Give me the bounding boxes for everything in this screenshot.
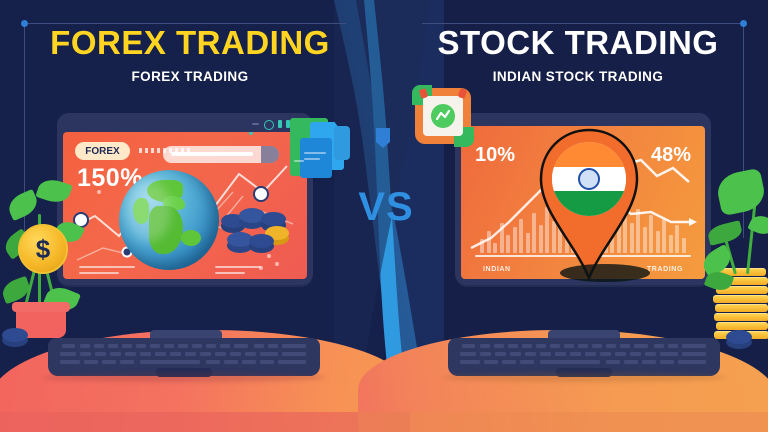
- zigzag-line-icon: [431, 104, 455, 128]
- laptop-right-base-shadow: [442, 373, 726, 382]
- desk-edge-left: [0, 412, 410, 432]
- india-flag-icon: [552, 142, 626, 216]
- laptop-right-keyboard[interactable]: [448, 338, 720, 376]
- right-heading-group: STOCK TRADING INDIAN STOCK TRADING: [398, 26, 758, 84]
- left-subtitle: FOREX TRADING: [10, 69, 370, 84]
- right-subtitle: INDIAN STOCK TRADING: [398, 69, 758, 84]
- right-title: STOCK TRADING: [398, 26, 758, 61]
- app-icon-pin-right: [458, 88, 467, 99]
- right-axis-label-right: TRADING: [647, 266, 683, 273]
- laptop-left-keyboard[interactable]: [48, 338, 320, 376]
- left-heading-group: FOREX TRADING FOREX TRADING: [10, 26, 370, 84]
- poker-chip-stack-icon: [221, 206, 287, 256]
- forex-badge-label: FOREX: [85, 146, 119, 157]
- left-browser-search-button[interactable]: [261, 146, 279, 163]
- potted-plant-left: $: [2, 168, 82, 338]
- plant-leaf: [35, 176, 72, 207]
- ashoka-chakra-icon: [578, 168, 600, 190]
- plant-pot-rim: [12, 302, 70, 312]
- plant-leaf: [706, 220, 743, 246]
- left-card-line-1: [304, 152, 326, 154]
- right-axis-label-left: INDIAN: [483, 266, 511, 273]
- left-card-line-2: [304, 158, 320, 160]
- world-globe-icon: [119, 170, 219, 270]
- vs-decor-chip-top: [334, 126, 350, 160]
- infographic-canvas: FOREX TRADING FOREX TRADING STOCK TRADIN…: [0, 0, 768, 432]
- plant-leaf: [714, 168, 767, 217]
- laptop-left-display: FOREX 150%: [63, 132, 307, 279]
- decor-chip-left: [2, 328, 28, 342]
- left-title: FOREX TRADING: [10, 26, 370, 61]
- dollar-coin-icon: $: [18, 224, 68, 274]
- stock-chart-app-icon[interactable]: [415, 88, 471, 144]
- pin-drop-shadow: [560, 264, 650, 282]
- badge-dash-decor: [139, 148, 191, 153]
- left-card-line-3: [294, 160, 304, 162]
- india-flag-location-pin-icon: [534, 126, 644, 286]
- dollar-symbol: $: [20, 226, 66, 272]
- desk-edge-right: [358, 412, 768, 432]
- decor-chip-right: [726, 330, 752, 344]
- forex-badge: FOREX: [75, 142, 130, 160]
- right-stat-right: 48%: [651, 144, 691, 167]
- laptop-left-base-shadow: [42, 373, 326, 382]
- vs-label: VS: [336, 185, 436, 230]
- right-stat-left: 10%: [475, 144, 515, 167]
